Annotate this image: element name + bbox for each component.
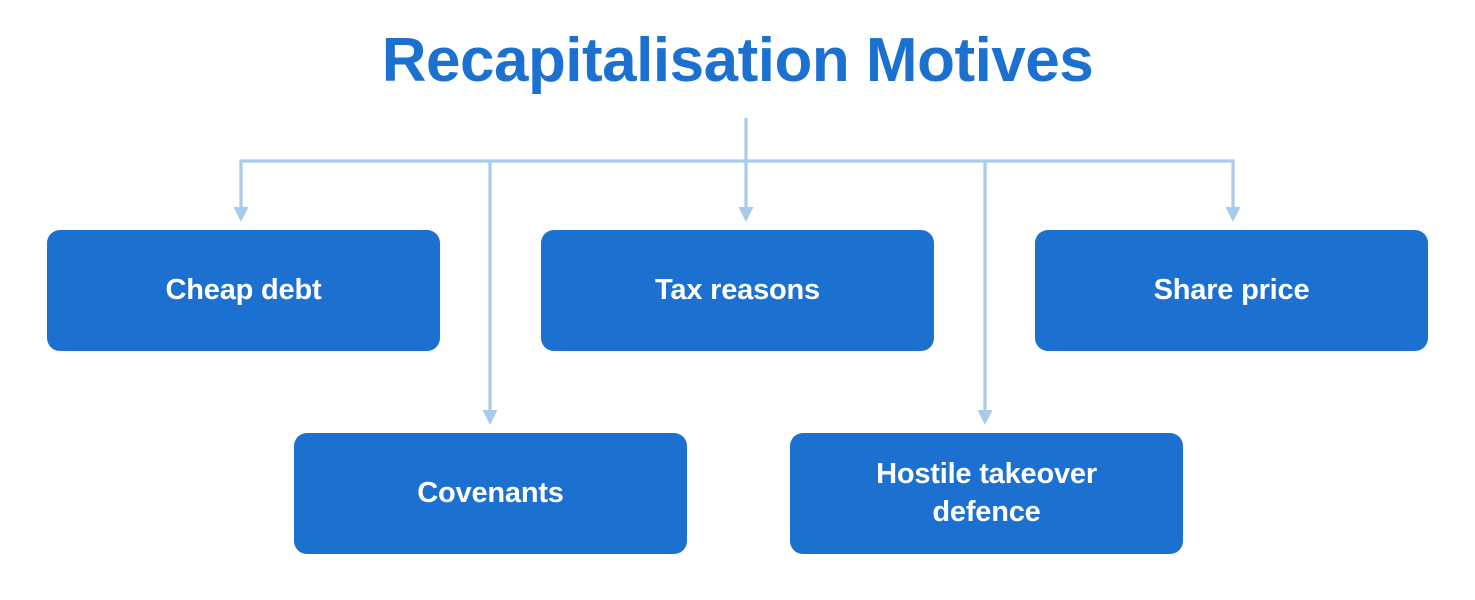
node-label: Tax reasons — [645, 272, 830, 309]
diagram-canvas: Recapitalisation Motives Cheap debt Cove… — [0, 0, 1475, 600]
node-label: Hostile takeover defence — [866, 456, 1107, 530]
node-share-price[interactable]: Share price — [1035, 230, 1428, 351]
node-label: Share price — [1144, 272, 1320, 309]
node-tax-reasons[interactable]: Tax reasons — [541, 230, 934, 351]
node-covenants[interactable]: Covenants — [294, 433, 687, 554]
node-hostile-takeover-defence[interactable]: Hostile takeover defence — [790, 433, 1183, 554]
page-title: Recapitalisation Motives — [0, 26, 1475, 95]
node-label: Covenants — [407, 475, 573, 512]
node-cheap-debt[interactable]: Cheap debt — [47, 230, 440, 351]
node-label: Cheap debt — [156, 272, 332, 309]
